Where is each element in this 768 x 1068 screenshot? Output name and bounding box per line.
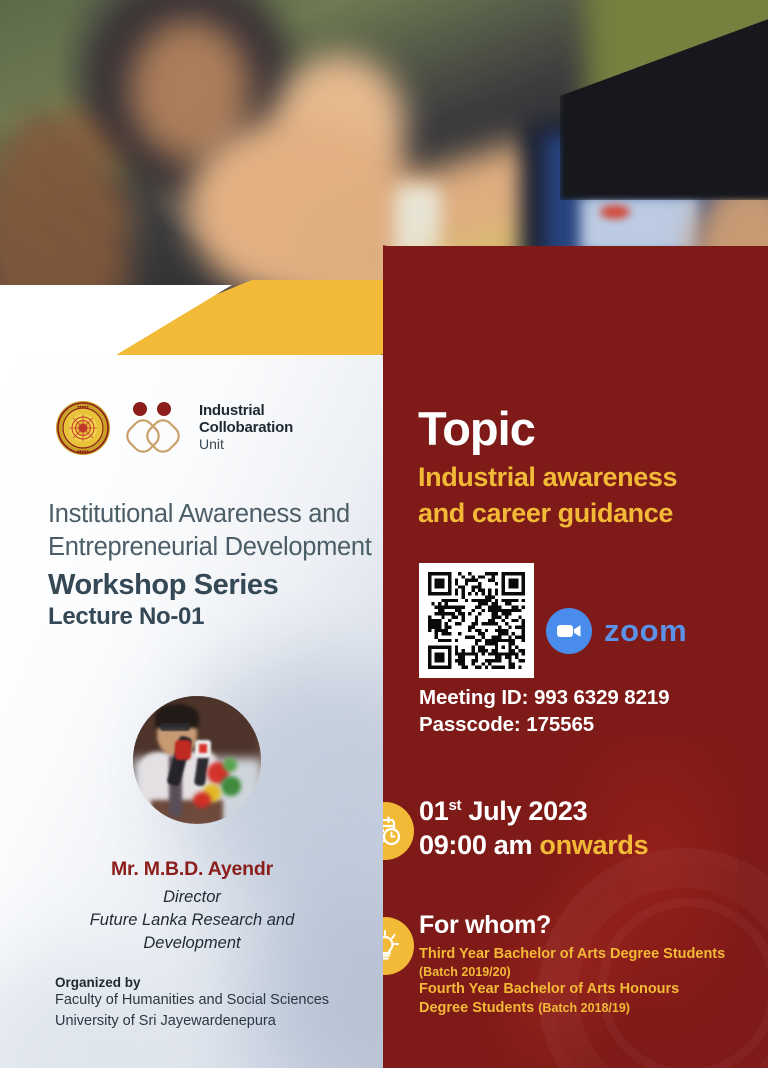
event-date-rest: July 2023: [461, 796, 587, 826]
university-seal-icon: ◆◆◆◆◆ ◆◆◆◆◆: [55, 400, 111, 456]
interlocking-links-icon: [125, 400, 185, 456]
passcode-row: Passcode: 175565: [419, 711, 759, 738]
event-time-value: 09:00 am: [419, 830, 539, 860]
topic-line-1: Industrial awareness: [418, 460, 748, 496]
event-time: 09:00 am onwards: [419, 830, 759, 861]
speaker-affiliation-line-1: Future Lanka Research and: [0, 909, 384, 932]
workshop-title-block: Institutional Awareness and Entrepreneur…: [48, 498, 378, 631]
event-date: 01st July 2023: [419, 796, 759, 827]
event-time-suffix: onwards: [539, 830, 648, 860]
lecture-number: Lecture No-01: [48, 603, 378, 631]
speaker-name: Mr. M.B.D. Ayendr: [0, 858, 384, 881]
organized-by-label: Organized by: [55, 975, 384, 990]
audience-line-4-batch: (Batch 2018/19): [538, 1001, 630, 1015]
speaker-affiliation-line-2: Development: [0, 932, 384, 955]
speaker-role: Director: [0, 886, 384, 909]
event-date-day: 01: [419, 796, 448, 826]
workshop-series-title: Workshop Series: [48, 569, 378, 602]
audience-line-3: Fourth Year Bachelor of Arts Honours: [419, 980, 764, 999]
svg-text:◆◆◆◆◆: ◆◆◆◆◆: [77, 449, 89, 453]
brand-line-3: Unit: [199, 437, 293, 453]
video-camera-icon: [546, 608, 592, 654]
zoom-wordmark: zoom: [604, 613, 687, 649]
meeting-id-row: Meeting ID: 993 6329 8219: [419, 684, 759, 711]
passcode-label: Passcode:: [419, 713, 521, 736]
topic-line-2: and career guidance: [418, 496, 748, 532]
audience-line-4: Degree Students (Batch 2018/19): [419, 999, 764, 1018]
organizer-faculty: Faculty of Humanities and Social Science…: [55, 990, 384, 1011]
meeting-details: Meeting ID: 993 6329 8219 Passcode: 1755…: [419, 684, 759, 738]
zoom-logo: zoom: [546, 608, 687, 654]
right-panel: Topic Industrial awareness and career gu…: [383, 246, 768, 1068]
organizer-block: Organized by Faculty of Humanities and S…: [55, 975, 384, 1031]
photo-blur-shape: [600, 205, 630, 219]
audience-line-2: (Batch 2019/20): [419, 964, 764, 980]
brand-logo-row: ◆◆◆◆◆ ◆◆◆◆◆ Industrial: [55, 400, 293, 456]
event-date-ordinal: st: [448, 797, 461, 814]
meeting-id-label: Meeting ID:: [419, 686, 528, 709]
lightbulb-icon: [383, 917, 414, 975]
svg-text:◆◆◆◆◆: ◆◆◆◆◆: [77, 405, 89, 409]
zoom-qr-code[interactable]: [419, 563, 534, 678]
audience-block: For whom? Third Year Bachelor of Arts De…: [419, 911, 764, 1018]
speaker-role-block: Director Future Lanka Research and Devel…: [0, 886, 384, 954]
topic-text: Industrial awareness and career guidance: [418, 460, 748, 532]
audience-line-4-main: Degree Students: [419, 1000, 538, 1016]
audience-line-1: Third Year Bachelor of Arts Degree Stude…: [419, 945, 764, 964]
left-panel: ◆◆◆◆◆ ◆◆◆◆◆ Industrial: [0, 355, 384, 1068]
brand-name-text: Industrial Collobaration Unit: [199, 403, 293, 452]
poster-canvas: ◆◆◆◆◆ ◆◆◆◆◆ Industrial: [0, 0, 768, 1068]
workshop-subtitle: Institutional Awareness and Entrepreneur…: [48, 498, 378, 563]
meeting-id-value: 993 6329 8219: [534, 686, 670, 709]
brand-line-2: Collobaration: [199, 420, 293, 437]
for-whom-heading: For whom?: [419, 911, 764, 940]
topic-label: Topic: [418, 401, 535, 456]
speaker-photo: [133, 696, 261, 824]
organizer-university: University of Sri Jayewardenepura: [55, 1011, 384, 1032]
brand-line-1: Industrial: [199, 403, 293, 420]
calendar-clock-icon: [383, 802, 414, 860]
passcode-value: 175565: [526, 713, 594, 736]
date-time-block: 01st July 2023 09:00 am onwards: [419, 796, 759, 861]
